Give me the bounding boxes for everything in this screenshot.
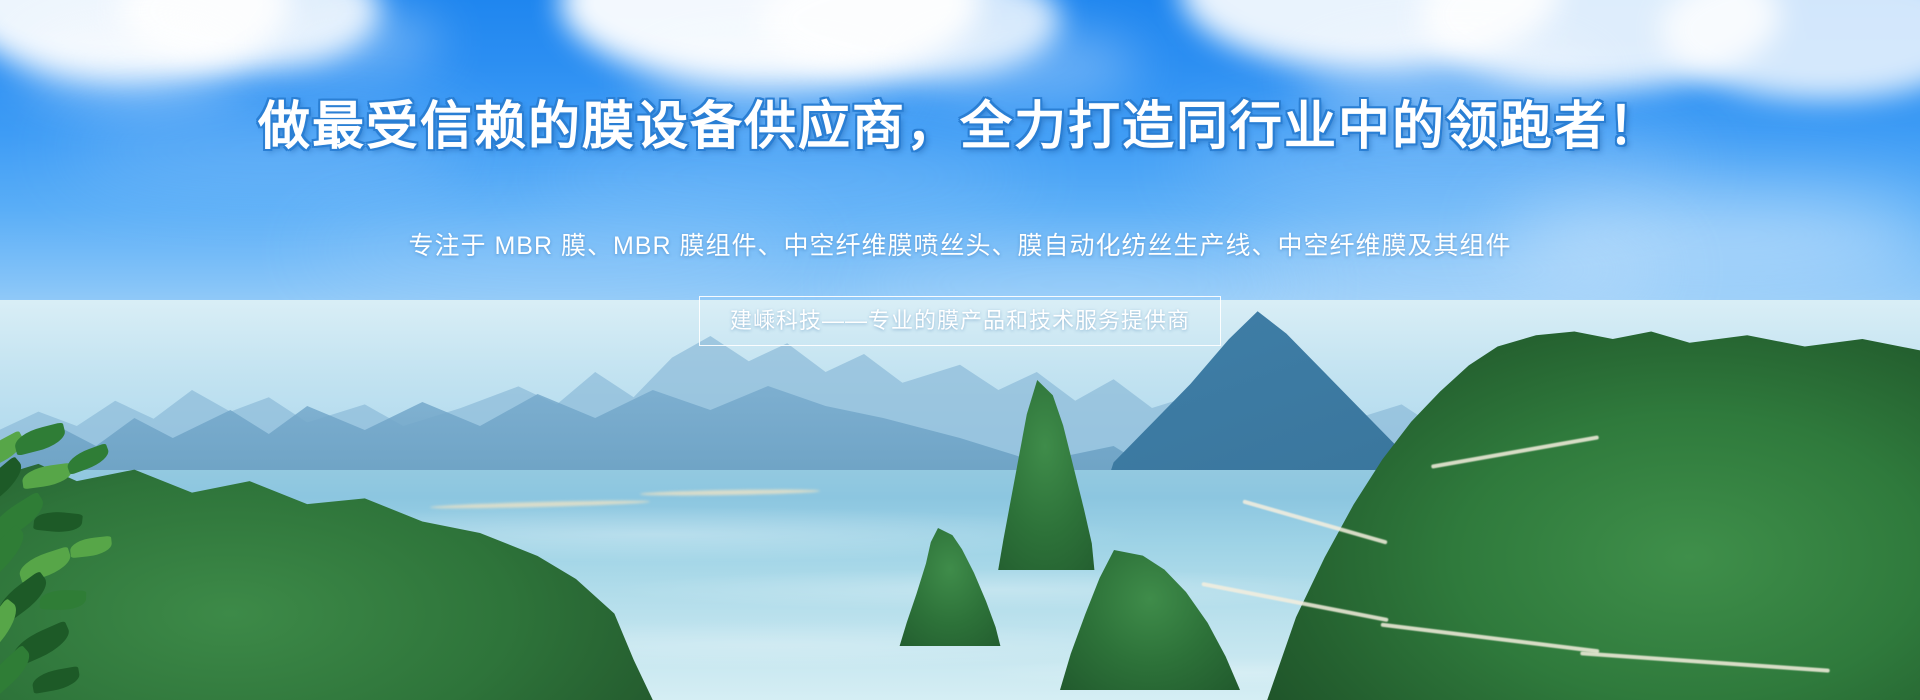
tagline-container: 建嵊科技——专业的膜产品和技术服务提供商 — [0, 296, 1920, 346]
cloud-icon — [560, 0, 980, 85]
cloud-icon — [1660, 0, 1920, 100]
cloud-icon — [20, 20, 250, 100]
cloud-icon — [1180, 0, 1560, 70]
cloud-icon — [120, 0, 380, 70]
cloud-icon — [1420, 0, 1780, 90]
banner-headline: 做最受信赖的膜设备供应商，全力打造同行业中的领跑者！ — [0, 96, 1920, 158]
cloud-icon — [900, 30, 1140, 100]
banner-tagline-box: 建嵊科技——专业的膜产品和技术服务提供商 — [699, 296, 1221, 346]
hero-banner: 做最受信赖的膜设备供应商，全力打造同行业中的领跑者！ 专注于 MBR 膜、MBR… — [0, 0, 1920, 700]
foreground-branch — [0, 420, 160, 700]
cloud-icon — [520, 150, 1040, 205]
cloud-icon — [0, 0, 290, 80]
cloud-icon — [760, 0, 1060, 80]
landscape-scene — [0, 300, 1920, 700]
cloud-icon — [260, 10, 440, 70]
banner-subtitle: 专注于 MBR 膜、MBR 膜组件、中空纤维膜喷丝头、膜自动化纺丝生产线、中空纤… — [0, 228, 1920, 264]
